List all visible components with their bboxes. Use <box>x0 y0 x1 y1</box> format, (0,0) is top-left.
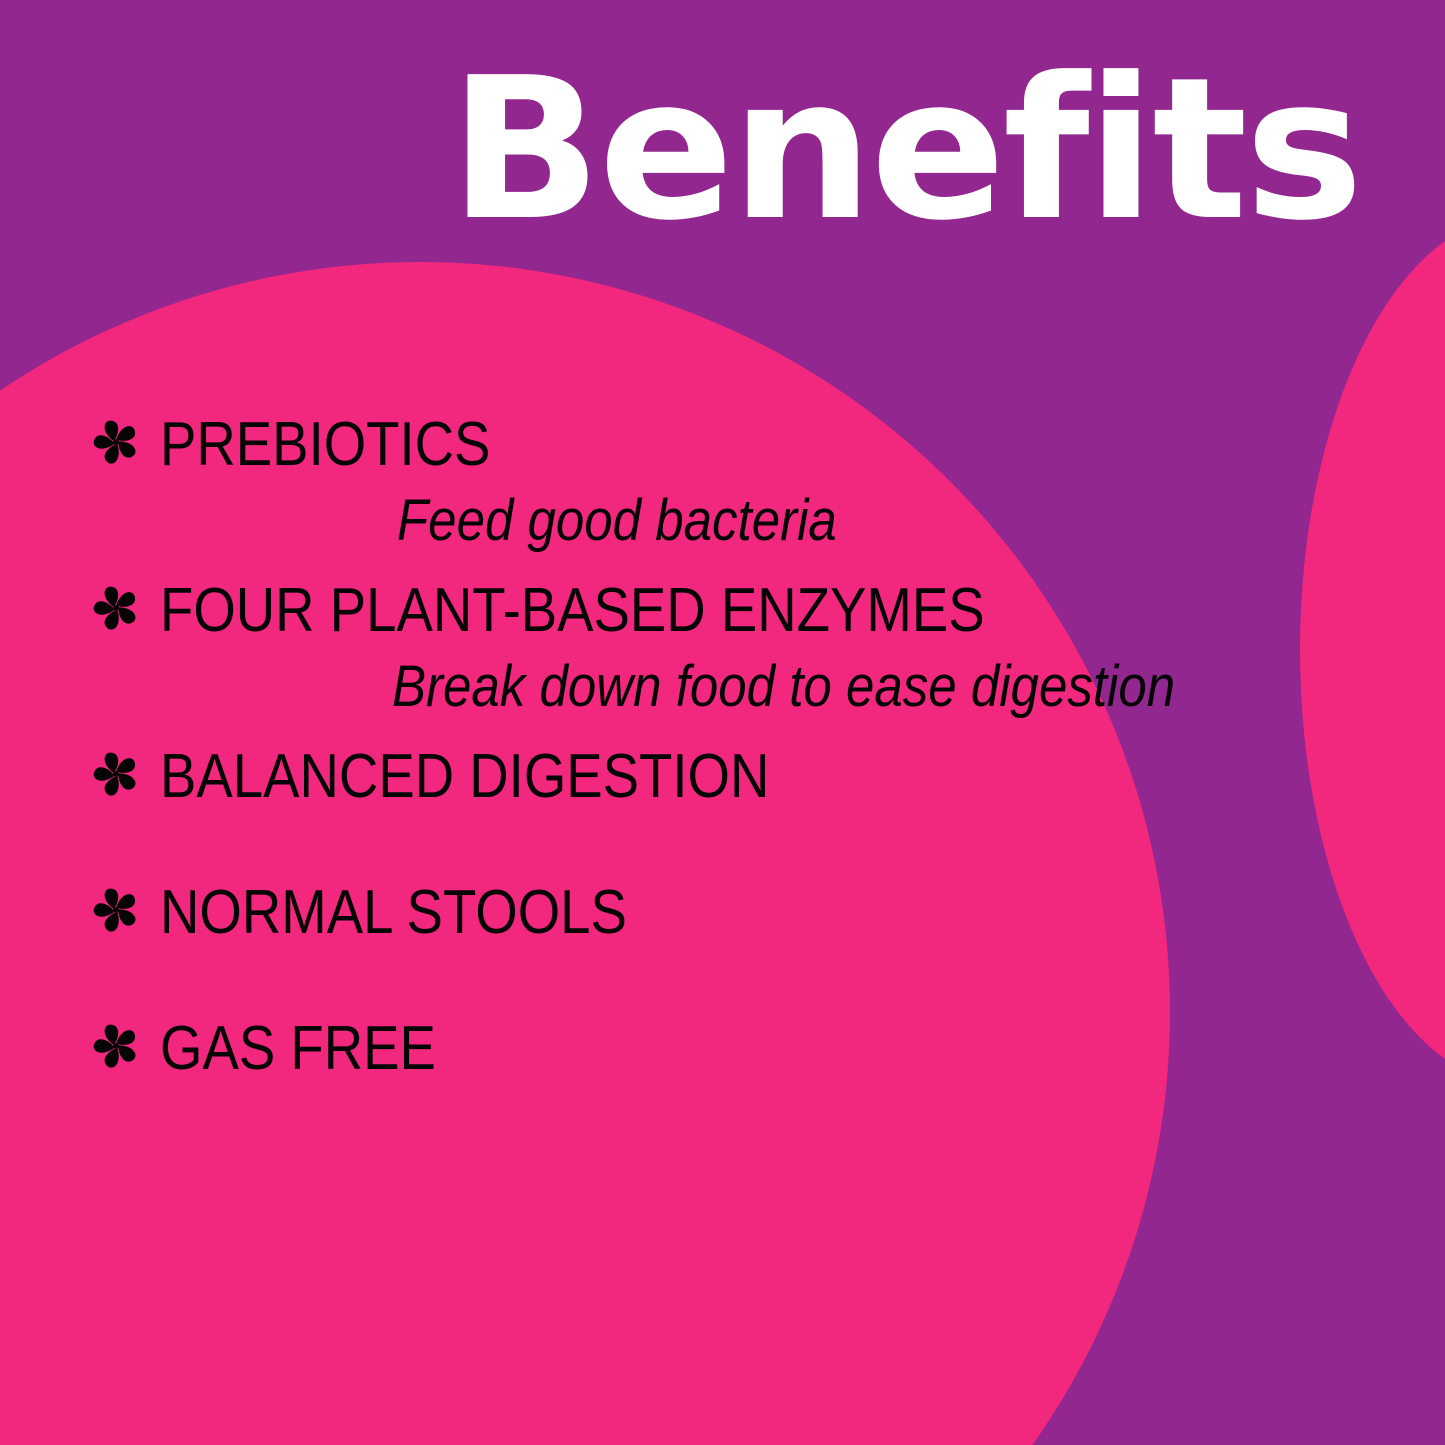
benefit-item-5: GAS FREE <box>0 1018 1400 1080</box>
benefit-heading: PREBIOTICS <box>160 414 1251 476</box>
flower-icon <box>88 414 144 470</box>
flower-icon <box>88 882 144 938</box>
benefit-heading: FOUR PLANT-BASED ENZYMES <box>160 580 1251 642</box>
benefit-item-2: FOUR PLANT-BASED ENZYMES Break down food… <box>0 580 1400 716</box>
benefit-heading: BALANCED DIGESTION <box>160 746 1251 808</box>
benefit-item-1: PREBIOTICS Feed good bacteria <box>0 414 1400 550</box>
flower-icon <box>88 746 144 802</box>
benefit-heading: GAS FREE <box>160 1018 1251 1080</box>
benefits-list: PREBIOTICS Feed good bacteria <box>0 414 1400 1080</box>
benefit-subtext: Break down food to ease digestion <box>392 658 1279 716</box>
benefit-item-3: BALANCED DIGESTION <box>0 746 1400 808</box>
flower-icon <box>88 1018 144 1074</box>
flower-icon <box>88 580 144 636</box>
page-title: Benefits <box>450 48 1361 254</box>
benefits-infographic: Benefits <box>0 0 1445 1445</box>
benefit-item-4: NORMAL STOOLS <box>0 882 1400 944</box>
benefit-subtext: Feed good bacteria <box>397 492 1280 550</box>
benefit-heading: NORMAL STOOLS <box>160 882 1251 944</box>
